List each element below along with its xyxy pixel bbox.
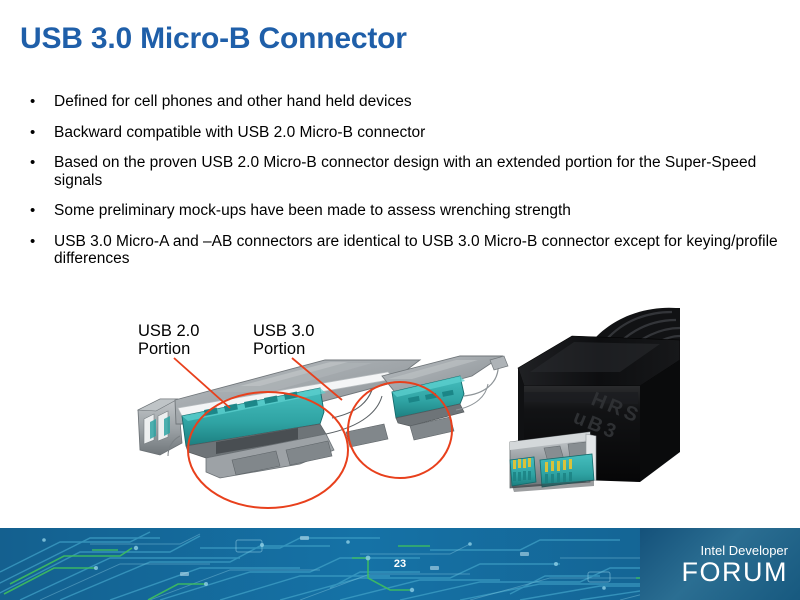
bullet-marker-icon: • xyxy=(30,202,35,220)
list-item: • Backward compatible with USB 2.0 Micro… xyxy=(28,124,780,142)
cad-cutaway-render xyxy=(138,356,508,508)
idf-logo-line1: Intel Developer xyxy=(682,544,788,558)
bullet-marker-icon: • xyxy=(30,93,35,111)
connector-figure: USB 2.0 Portion USB 3.0 Portion xyxy=(120,300,680,520)
connector-illustration: HRS uB3 xyxy=(120,300,680,520)
list-item: • Defined for cell phones and other hand… xyxy=(28,93,780,111)
list-item: • USB 3.0 Micro-A and –AB connectors are… xyxy=(28,233,780,268)
list-item-text: Based on the proven USB 2.0 Micro-B conn… xyxy=(54,154,780,189)
page-title: USB 3.0 Micro-B Connector xyxy=(20,22,407,56)
list-item-text: Some preliminary mock-ups have been made… xyxy=(54,202,780,220)
bullet-list: • Defined for cell phones and other hand… xyxy=(28,93,780,281)
page-number: 23 xyxy=(0,558,800,570)
list-item: • Based on the proven USB 2.0 Micro-B co… xyxy=(28,154,780,189)
bullet-marker-icon: • xyxy=(30,233,35,251)
connector-photograph: HRS uB3 xyxy=(510,308,680,492)
list-item-text: USB 3.0 Micro-A and –AB connectors are i… xyxy=(54,233,780,268)
list-item: • Some preliminary mock-ups have been ma… xyxy=(28,202,780,220)
bullet-marker-icon: • xyxy=(30,124,35,142)
bullet-marker-icon: • xyxy=(30,154,35,172)
list-item-text: Defined for cell phones and other hand h… xyxy=(54,93,780,111)
list-item-text: Backward compatible with USB 2.0 Micro-B… xyxy=(54,124,780,142)
slide: USB 3.0 Micro-B Connector • Defined for … xyxy=(0,0,800,600)
